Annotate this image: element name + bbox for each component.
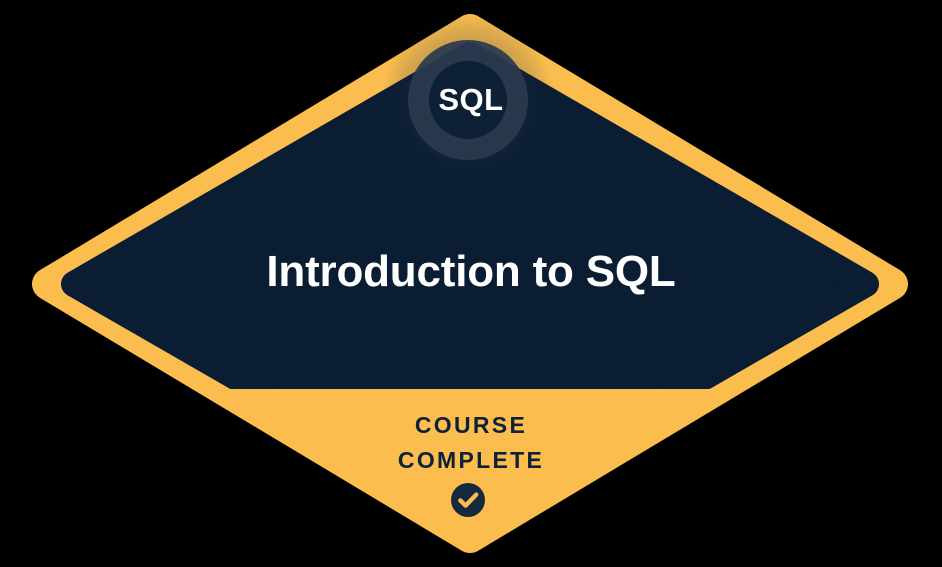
subject-chip-graphic <box>380 12 556 188</box>
check-circle-icon <box>451 483 485 517</box>
course-completion-badge: SQL Introduction to SQL COURSE COMPLETE <box>0 0 942 567</box>
badge-graphic <box>0 0 942 567</box>
